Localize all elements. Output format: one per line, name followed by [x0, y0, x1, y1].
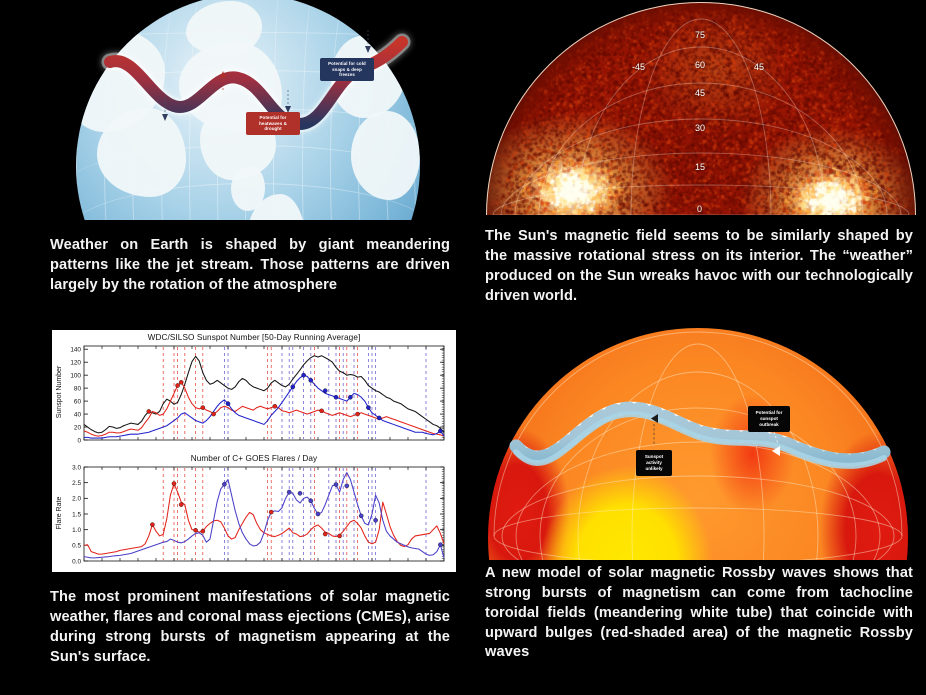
- svg-text:0.5: 0.5: [72, 543, 81, 550]
- chart-title-bottom: Number of C+ GOES Flares / Day: [54, 454, 454, 463]
- sun-lat-label-75: 75: [695, 30, 705, 40]
- label-cold-snaps: Potential for cold snaps & deep freezes: [320, 58, 374, 81]
- svg-text:1.0: 1.0: [72, 527, 81, 534]
- plot-top-svg: 020406080100120140: [54, 342, 454, 450]
- panel-sunspot-chart: WDC/SILSO Sunspot Number [50-Day Running…: [0, 318, 466, 695]
- toroidal-field-tube: [488, 328, 908, 560]
- svg-text:20: 20: [74, 424, 82, 431]
- y-axis-label-flare: Flare Rate: [56, 467, 63, 559]
- caption-earth: Weather on Earth is shaped by giant mean…: [50, 236, 450, 296]
- svg-text:0: 0: [77, 437, 81, 444]
- chart-title-top: WDC/SILSO Sunspot Number [50-Day Running…: [54, 333, 454, 342]
- svg-text:3.0: 3.0: [72, 464, 81, 471]
- svg-text:100: 100: [70, 373, 81, 380]
- y-axis-label-sunspot: Sunspot Number: [56, 346, 63, 438]
- svg-text:1.5: 1.5: [72, 511, 81, 518]
- sun-lat-label-0: 0: [697, 204, 702, 214]
- jet-stream-ribbon: [76, 0, 420, 220]
- panel-sun-magnetogram: 75 60 45 30 15 0 -45 45 The Sun's magnet…: [466, 0, 926, 318]
- caption-sun: The Sun's magnetic field seems to be sim…: [485, 227, 913, 306]
- sunspot-flare-chart: WDC/SILSO Sunspot Number [50-Day Running…: [52, 330, 456, 572]
- sun-lon-label-45: 45: [754, 62, 764, 72]
- sun-lat-label-60: 60: [695, 60, 705, 70]
- infographic-page: Potential for cold snaps & deep freezes …: [0, 0, 926, 695]
- sun-lat-label-30: 30: [695, 123, 705, 133]
- svg-text:0.0: 0.0: [72, 558, 81, 565]
- svg-text:2.0: 2.0: [72, 496, 81, 503]
- svg-text:40: 40: [74, 411, 82, 418]
- svg-text:80: 80: [74, 386, 82, 393]
- sun-lat-label-45: 45: [695, 88, 705, 98]
- rossby-wave-model-illustration: Potential for sunspot outbreak Sunspot a…: [488, 328, 908, 560]
- plot-bottom-svg: 0.00.51.01.52.02.53.0: [54, 463, 454, 571]
- label-sunspot-unlikely: Sunspot activity unlikely: [636, 450, 672, 476]
- plot-sunspot-number: Sunspot Number 020406080100120140: [54, 342, 454, 450]
- svg-text:60: 60: [74, 399, 82, 406]
- caption-model: A new model of solar magnetic Rossby wav…: [485, 564, 913, 663]
- earth-jet-stream-illustration: Potential for cold snaps & deep freezes …: [76, 0, 420, 220]
- svg-text:120: 120: [70, 360, 81, 367]
- label-heatwaves: Potential for heatwaves & drought: [246, 112, 300, 135]
- sun-lon-label-neg45: -45: [632, 62, 645, 72]
- panel-earth: Potential for cold snaps & deep freezes …: [0, 0, 466, 318]
- plot-flare-rate: Flare Rate 0.00.51.01.52.02.53.0: [54, 463, 454, 571]
- svg-text:2.5: 2.5: [72, 480, 81, 487]
- arrow-down-left: [162, 114, 168, 121]
- label-sunspot-outbreak: Potential for sunspot outbreak: [748, 406, 790, 432]
- arrow-down-right: [365, 46, 371, 53]
- sun-magnetogram-image: 75 60 45 30 15 0 -45 45: [486, 2, 916, 215]
- sun-lat-label-15: 15: [695, 162, 705, 172]
- svg-text:140: 140: [70, 347, 81, 354]
- panel-rossby-model: Potential for sunspot outbreak Sunspot a…: [466, 318, 926, 695]
- caption-chart: The most prominent manifestations of sol…: [50, 588, 450, 667]
